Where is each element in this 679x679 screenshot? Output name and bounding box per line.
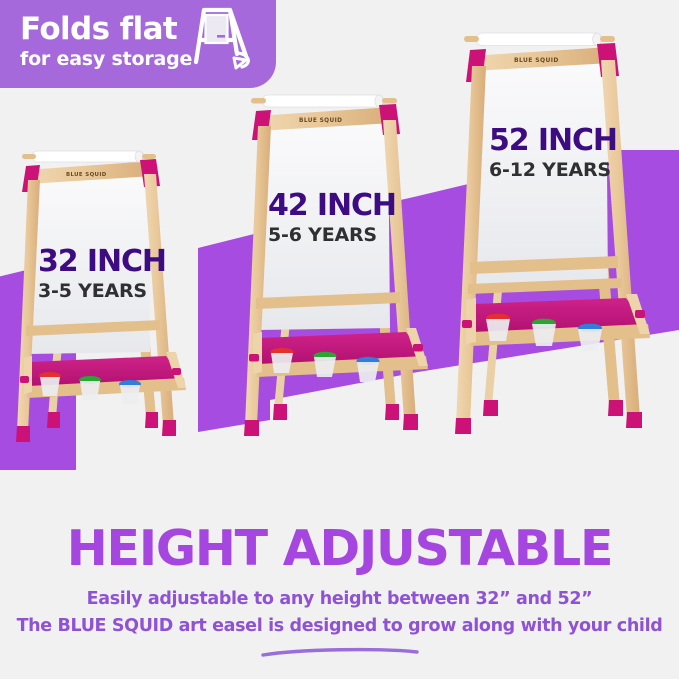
brand-label-large: BLUE SQUID: [514, 57, 559, 64]
easel-small[interactable]: BLUE SQUID: [8, 140, 228, 470]
paper-roll: [251, 95, 397, 107]
badge-subtitle: for easy storage: [20, 48, 192, 70]
folds-flat-badge: Folds flat for easy storage: [0, 0, 276, 88]
subtext-line-2: The BLUE SQUID art easel is designed to …: [0, 613, 679, 640]
subtext-line-1: Easily adjustable to any height between …: [0, 586, 679, 613]
size-label-medium: 42 INCH: [268, 191, 396, 221]
caption-large-easel: 52 INCH 6-12 YEARS: [489, 126, 617, 180]
size-label-small: 32 INCH: [38, 247, 166, 277]
paint-cup-blue: [578, 324, 602, 351]
brand-label-small: BLUE SQUID: [66, 172, 107, 178]
paint-cup-blue: [119, 380, 141, 404]
paint-cup-blue: [357, 357, 380, 382]
size-label-large: 52 INCH: [489, 126, 617, 156]
paint-cup-red: [486, 314, 510, 341]
headline: HEIGHT ADJUSTABLE: [0, 524, 679, 573]
subtext-emphasis: any height: [279, 589, 381, 609]
easel-medium[interactable]: BLUE SQUID: [236, 84, 466, 474]
brush-stroke-underline: [260, 646, 420, 658]
age-label-large: 6-12 YEARS: [489, 161, 617, 180]
paper-roll: [22, 151, 156, 162]
easel-large[interactable]: BLUE SQUID: [448, 22, 679, 472]
age-label-small: 3-5 YEARS: [38, 282, 166, 301]
badge-title: Folds flat: [20, 14, 192, 46]
bottom-copy-block: HEIGHT ADJUSTABLE Easily adjustable to a…: [0, 524, 679, 658]
folding-easel-icon: [184, 4, 258, 72]
caption-small-easel: 32 INCH 3-5 YEARS: [38, 247, 166, 301]
subtext-block: Easily adjustable to any height between …: [0, 586, 679, 640]
age-label-medium: 5-6 YEARS: [268, 226, 396, 245]
product-infographic: Folds flat for easy storage: [0, 0, 679, 679]
subtext-1c: between 32” and 52”: [381, 589, 592, 609]
paper-roll: [464, 33, 615, 46]
brand-label-medium: BLUE SQUID: [299, 118, 342, 124]
caption-medium-easel: 42 INCH 5-6 YEARS: [268, 191, 396, 245]
paint-cup-green: [79, 376, 101, 400]
subtext-1a: Easily adjustable to: [87, 589, 280, 609]
paint-cup-green: [532, 319, 556, 346]
